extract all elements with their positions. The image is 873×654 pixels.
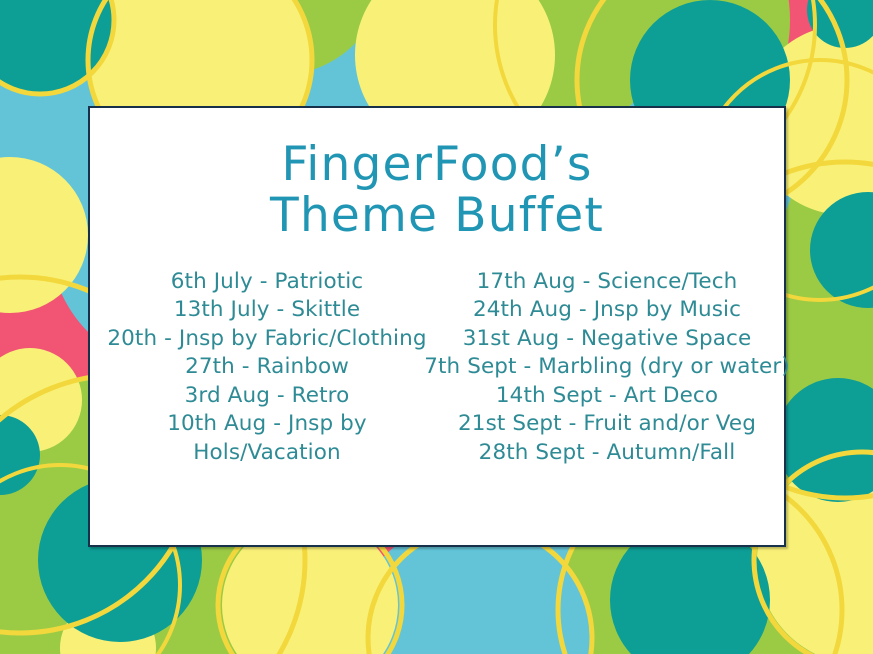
schedule-entry: 6th July - Patriotic — [171, 268, 363, 297]
schedule-entry: 17th Aug - Science/Tech — [477, 268, 738, 297]
schedule-entry: 20th - Jnsp by Fabric/Clothing — [107, 325, 426, 354]
page-title: FingerFood’s Theme Buffet — [90, 140, 784, 242]
schedule-entry: 27th - Rainbow — [185, 353, 349, 382]
content-card: FingerFood’s Theme Buffet 6th July - Pat… — [88, 106, 786, 547]
schedule-entry: 13th July - Skittle — [174, 296, 360, 325]
schedule-column-left: 6th July - Patriotic 13th July - Skittle… — [99, 268, 437, 468]
schedule-entry: 7th Sept - Marbling (dry or water) — [424, 353, 790, 382]
schedule-column-right: 17th Aug - Science/Tech 24th Aug - Jnsp … — [437, 268, 775, 468]
title-line-1: FingerFood’s — [90, 140, 784, 191]
schedule-entry: 10th Aug - Jnsp by Hols/Vacation — [99, 410, 435, 467]
schedule-entry: 21st Sept - Fruit and/or Veg — [458, 410, 756, 439]
title-line-2: Theme Buffet — [90, 191, 784, 242]
schedule-entry: 14th Sept - Art Deco — [496, 382, 718, 411]
schedule-entry: 3rd Aug - Retro — [185, 382, 350, 411]
schedule-entry: 28th Sept - Autumn/Fall — [479, 439, 736, 468]
schedule-entry: 31st Aug - Negative Space — [463, 325, 752, 354]
schedule-entry: 24th Aug - Jnsp by Music — [473, 296, 741, 325]
poster: FingerFood’s Theme Buffet 6th July - Pat… — [0, 0, 873, 654]
schedule-list: 6th July - Patriotic 13th July - Skittle… — [90, 268, 784, 468]
